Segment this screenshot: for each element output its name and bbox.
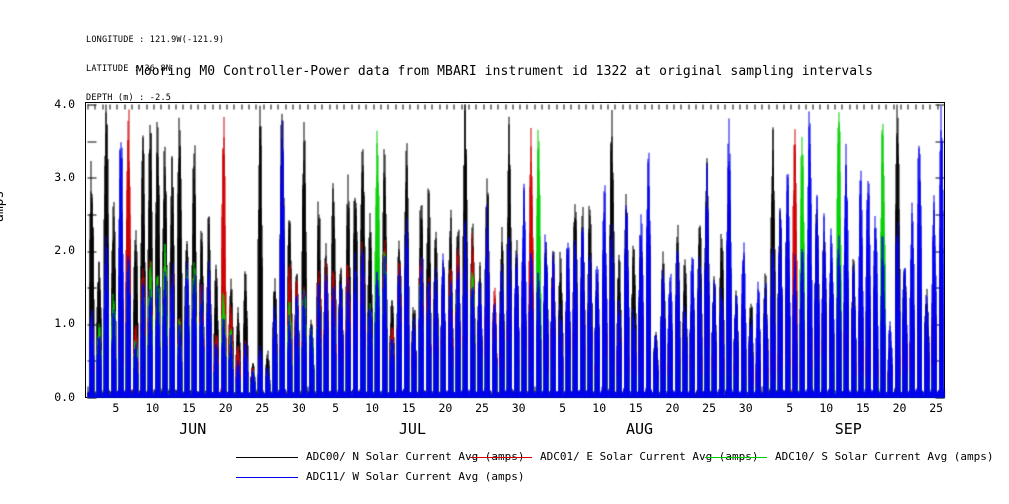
legend-label: ADC10/ S Solar Current Avg (amps) xyxy=(775,449,994,465)
x-tick-label: 10 xyxy=(811,401,841,415)
x-tick-label: 5 xyxy=(775,401,805,415)
x-month-label: JUN xyxy=(158,420,228,438)
x-tick-label: 25 xyxy=(694,401,724,415)
legend-color-swatch xyxy=(705,457,767,458)
y-tick-label: 1.0 xyxy=(41,316,75,330)
x-tick-label: 10 xyxy=(137,401,167,415)
x-tick-label: 30 xyxy=(284,401,314,415)
legend-color-swatch xyxy=(236,477,298,478)
x-tick-label: 5 xyxy=(101,401,131,415)
x-month-label: AUG xyxy=(605,420,675,438)
x-tick-label: 5 xyxy=(321,401,351,415)
x-tick-label: 10 xyxy=(357,401,387,415)
x-tick-label: 30 xyxy=(504,401,534,415)
legend-color-swatch xyxy=(470,457,532,458)
x-tick-label: 20 xyxy=(885,401,915,415)
x-tick-label: 20 xyxy=(211,401,241,415)
x-month-label: JUL xyxy=(377,420,447,438)
x-tick-label: 15 xyxy=(174,401,204,415)
plot-area xyxy=(85,102,945,398)
chart-title: Mooring M0 Controller-Power data from MB… xyxy=(0,64,1009,79)
x-tick-label: 30 xyxy=(731,401,761,415)
plot-canvas xyxy=(86,103,946,399)
metadata-longitude: LONGITUDE : 121.9W(-121.9) xyxy=(86,36,224,46)
x-month-label: SEP xyxy=(813,420,883,438)
legend-row: ADC11/ W Solar Current Avg (amps) xyxy=(0,469,1009,485)
x-tick-label: 20 xyxy=(430,401,460,415)
x-tick-label: 15 xyxy=(848,401,878,415)
x-tick-label: 15 xyxy=(394,401,424,415)
x-tick-label: 25 xyxy=(467,401,497,415)
legend-row: ADC00/ N Solar Current Avg (amps)ADC01/ … xyxy=(0,449,1009,465)
chart-page: LONGITUDE : 121.9W(-121.9) LATITUDE : 36… xyxy=(0,0,1009,504)
x-tick-label: 10 xyxy=(584,401,614,415)
x-tick-label: 20 xyxy=(657,401,687,415)
x-tick-label: 25 xyxy=(921,401,951,415)
x-tick-label: 15 xyxy=(621,401,651,415)
legend-color-swatch xyxy=(236,457,298,458)
x-tick-label: 25 xyxy=(247,401,277,415)
legend-label: ADC11/ W Solar Current Avg (amps) xyxy=(306,469,525,485)
x-tick-label: 5 xyxy=(548,401,578,415)
y-tick-label: 2.0 xyxy=(41,243,75,257)
y-tick-label: 3.0 xyxy=(41,170,75,184)
y-tick-label: 4.0 xyxy=(41,97,75,111)
y-axis-title: amps xyxy=(0,191,7,222)
y-tick-label: 0.0 xyxy=(41,390,75,404)
